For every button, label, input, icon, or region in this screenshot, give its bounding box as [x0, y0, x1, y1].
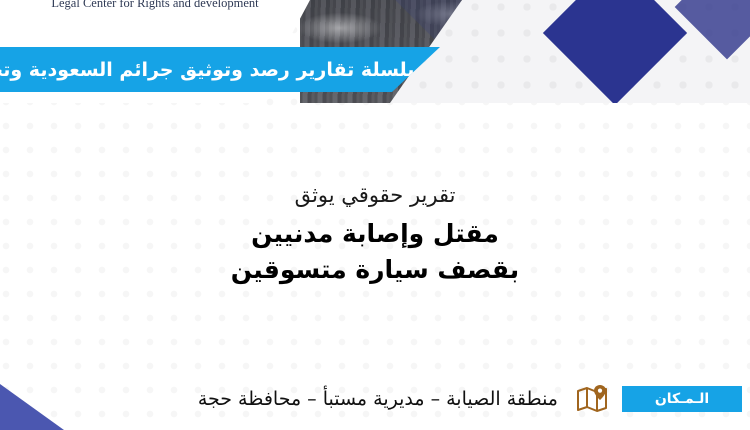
organization-english-name: Legal Center for Rights and development	[0, 0, 310, 11]
header-banner: Legal Center for Rights and development …	[0, 0, 750, 103]
footer-row-date	[558, 426, 742, 430]
series-ribbon: سلسلة تقارير رصد وتوثيق جرائم السعودية و…	[0, 47, 440, 92]
map-pin-icon	[572, 380, 612, 418]
location-label-badge: الـمـكان	[622, 386, 742, 412]
report-subtitle: تقرير حقوقي يوثق	[295, 183, 456, 207]
report-title-line-2: بقصف سيارة متسوقين	[231, 252, 519, 288]
series-ribbon-text: سلسلة تقارير رصد وتوثيق جرائم السعودية و…	[0, 59, 440, 81]
calendar-icon	[572, 426, 612, 430]
report-title-line-1: مقتل وإصابة مدنيين	[251, 216, 499, 252]
footer-row-location: الـمـكان منطقة الصيابة – مديرية مستبأ – …	[198, 380, 742, 418]
location-value: منطقة الصيابة – مديرية مستبأ – محافظة حج…	[198, 388, 558, 410]
main-content: تقرير حقوقي يوثق مقتل وإصابة مدنيين بقصف…	[0, 103, 750, 368]
footer-meta: الـمـكان منطقة الصيابة – مديرية مستبأ – …	[0, 368, 750, 430]
